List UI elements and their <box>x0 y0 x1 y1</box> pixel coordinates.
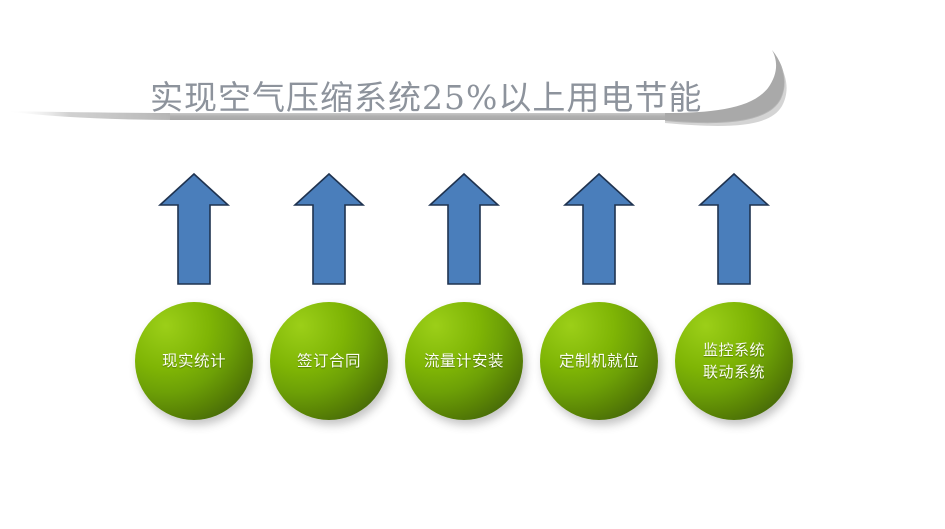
step-circle-2[interactable]: 签订合同 <box>270 302 388 420</box>
up-arrow-icon <box>697 171 771 287</box>
up-arrow-icon <box>292 171 366 287</box>
step-label-2: 签订合同 <box>297 350 361 372</box>
arrow-2 <box>292 171 366 287</box>
step-label-5: 监控系统 联动系统 <box>703 339 765 384</box>
arrow-3 <box>427 171 501 287</box>
step-circle-4[interactable]: 定制机就位 <box>540 302 658 420</box>
step-label-3: 流量计安装 <box>424 350 504 372</box>
up-arrow-icon <box>427 171 501 287</box>
step-label-4: 定制机就位 <box>559 350 639 372</box>
up-arrow-icon <box>562 171 636 287</box>
slide-canvas: 实现空气压缩系统25%以上用电节能 现实统计 签订合同 流量计安装 <box>0 0 945 529</box>
up-arrow-icon <box>157 171 231 287</box>
page-title: 实现空气压缩系统25%以上用电节能 <box>150 72 750 124</box>
title-banner: 实现空气压缩系统25%以上用电节能 <box>0 28 945 148</box>
step-circle-5[interactable]: 监控系统 联动系统 <box>675 302 793 420</box>
step-circle-3[interactable]: 流量计安装 <box>405 302 523 420</box>
arrow-5 <box>697 171 771 287</box>
arrow-1 <box>157 171 231 287</box>
step-label-1: 现实统计 <box>162 350 226 372</box>
step-circle-1[interactable]: 现实统计 <box>135 302 253 420</box>
arrow-4 <box>562 171 636 287</box>
